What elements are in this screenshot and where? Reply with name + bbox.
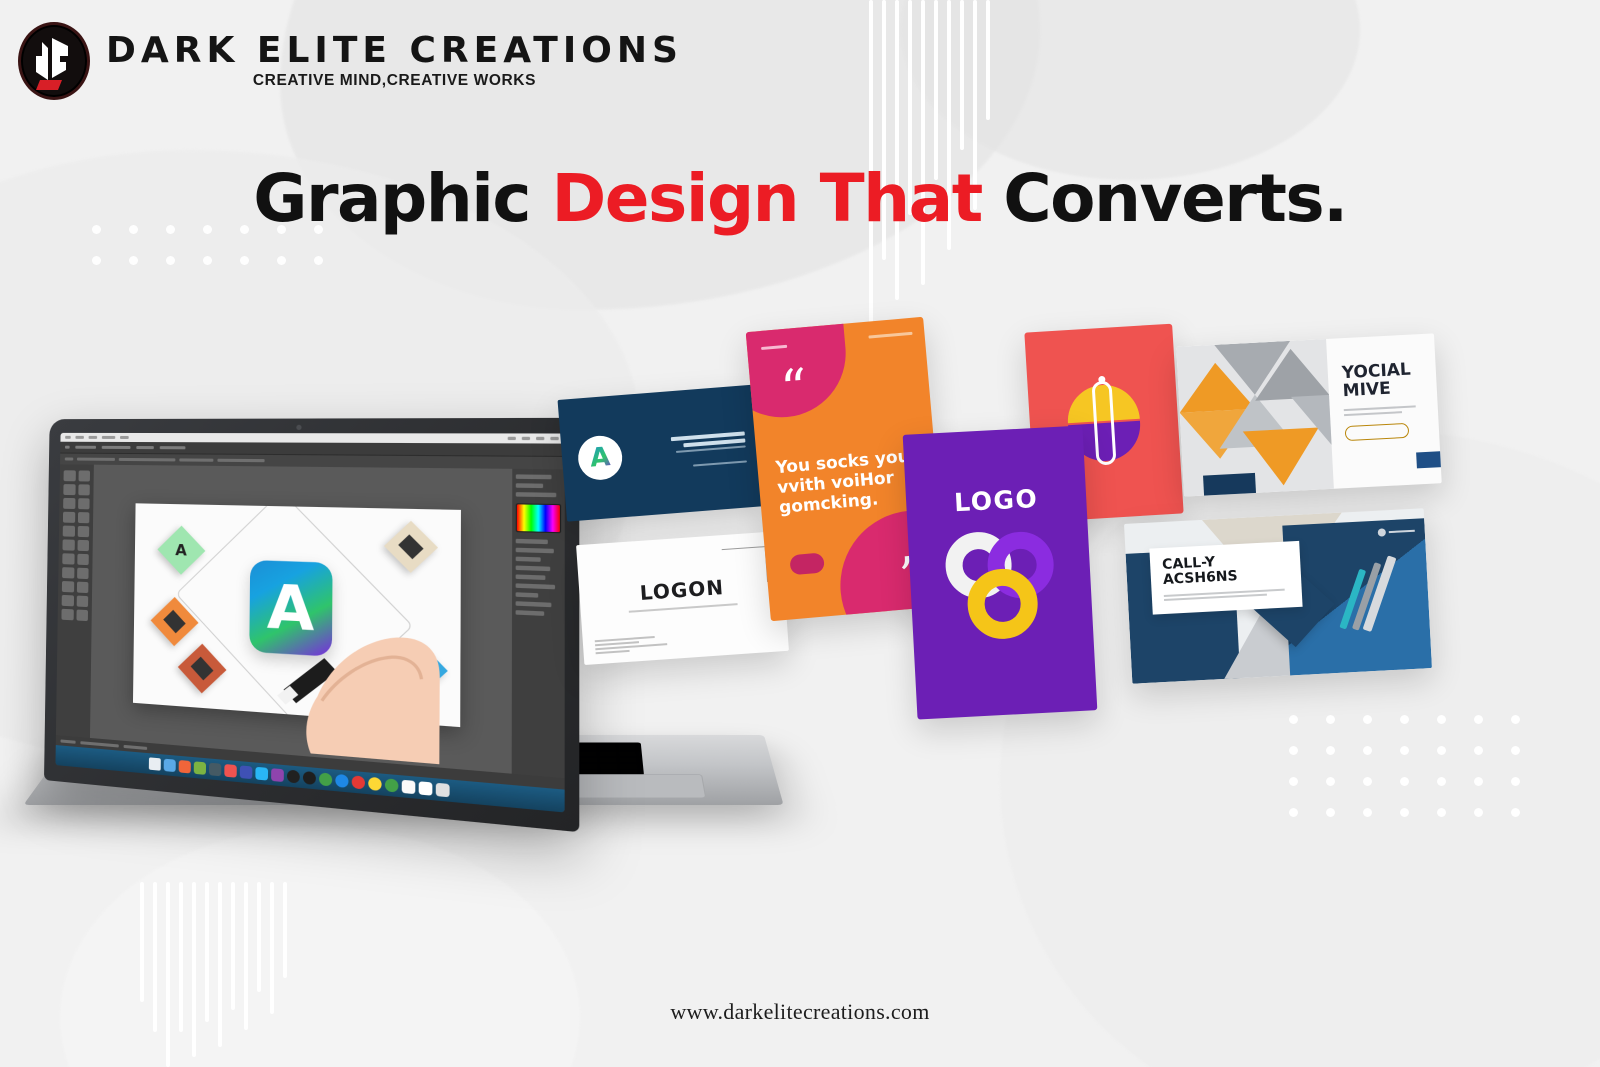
card-title-line-2: MIVE: [1342, 379, 1391, 401]
laptop-lid: A A: [44, 418, 579, 832]
editor-body: A A: [56, 464, 565, 778]
card-placeholder-text: [1344, 405, 1424, 416]
quote-open-icon: “: [780, 373, 809, 406]
decor-tag: [868, 332, 912, 339]
laptop-screen: A A: [55, 433, 564, 813]
brand-name: DARK ELITE CREATIONS: [106, 32, 683, 70]
hand-with-stylus-icon: [275, 592, 440, 764]
card-badge: [1203, 473, 1256, 497]
brand-tagline: CREATIVE MIND,CREATIVE WORKS: [106, 72, 683, 90]
website-url[interactable]: www.darkelitecreations.com: [0, 999, 1600, 1025]
sticker-chip: [178, 643, 227, 693]
card-badge: [1416, 451, 1442, 469]
editor-toolbar[interactable]: [56, 464, 94, 738]
card-placeholder-text: [1164, 588, 1290, 601]
card-title-line-2: ACSH6NS: [1163, 568, 1238, 588]
webcam-icon: [296, 425, 301, 430]
sticker-chip: [384, 521, 438, 573]
card-cta-button[interactable]: [1345, 423, 1410, 441]
card-cta-button[interactable]: [789, 552, 825, 575]
page-title: Graphic Design That Converts.: [0, 160, 1600, 237]
headline-part-1: Graphic: [253, 160, 551, 237]
dark-elite-monogram-badge-icon: [18, 22, 90, 100]
card-purple-logo-poster[interactable]: LOGO: [903, 425, 1098, 719]
geometric-pattern: [1176, 339, 1334, 497]
brand-mark-icon: [1378, 527, 1415, 537]
card-text-panel: CALL-Y ACSH6NS: [1149, 541, 1302, 615]
card-call-y-acshens[interactable]: CALL-Y ACSH6NS: [1124, 508, 1432, 683]
card-placeholder-text: [595, 635, 668, 654]
editor-canvas[interactable]: A A: [90, 465, 512, 774]
interlocking-rings-icon: [944, 528, 1058, 642]
vertical-lines-pattern-bottom-left: [140, 882, 287, 1067]
design-samples-cluster: A LOGON “ You socks you vvith voiHor gom…: [540, 320, 1500, 740]
card-yocial-mive-banner[interactable]: YOCIAL MIVE: [1176, 333, 1441, 496]
card-quote-text: You socks you vvith voiHor gomcking.: [775, 446, 920, 518]
headline-part-3: Converts.: [982, 160, 1347, 237]
card-placeholder-text: [633, 431, 747, 471]
headline-part-2: Design That: [551, 160, 981, 237]
card-logon-letterhead[interactable]: LOGON: [576, 531, 789, 665]
card-logo-letter: A: [589, 442, 611, 473]
brand-header: DARK ELITE CREATIONS CREATIVE MIND,CREAT…: [18, 22, 683, 100]
corner-rule: [722, 546, 768, 585]
card-title: LOGO: [906, 481, 1087, 519]
sticker-chip: A: [158, 525, 206, 574]
card-navy-business-card[interactable]: A: [558, 384, 767, 521]
card-logo-badge-icon: A: [577, 434, 624, 481]
